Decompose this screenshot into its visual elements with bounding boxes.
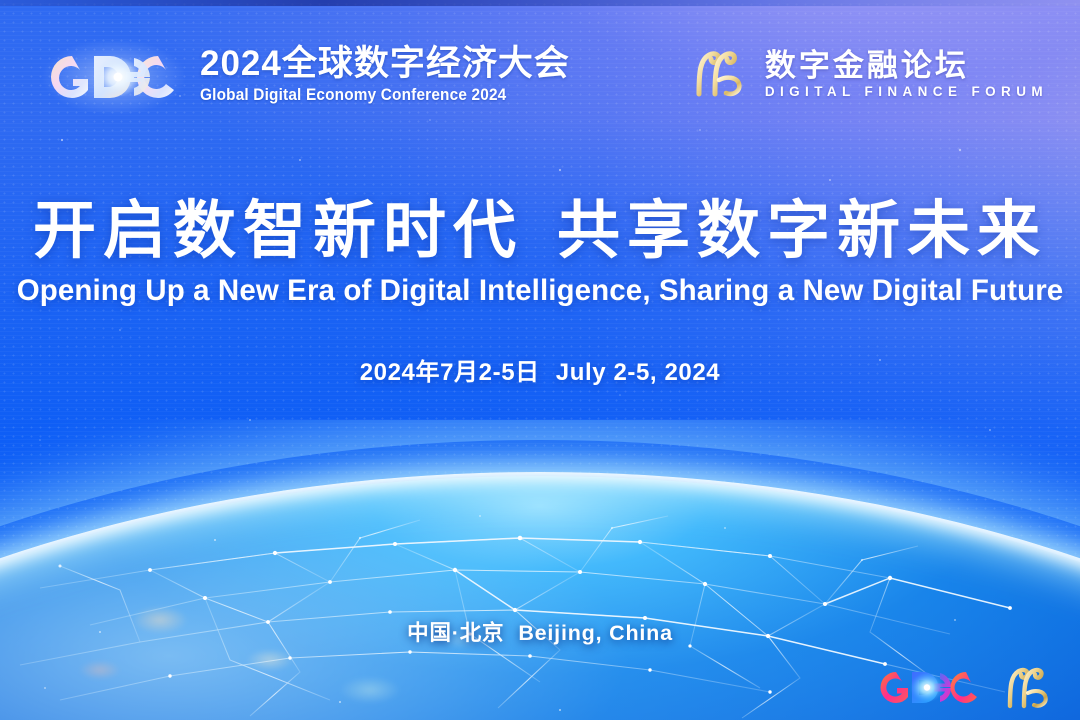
ff-logo-footer[interactable] <box>1002 664 1054 712</box>
location-en: Beijing, China <box>518 621 673 645</box>
conference-backdrop: 2024全球数字经济大会 Global Digital Economy Conf… <box>0 0 1080 720</box>
dff-logo-block[interactable]: 数字金融论坛 DIGITAL FINANCE FORUM <box>689 46 1048 102</box>
header-bar: 2024全球数字经济大会 Global Digital Economy Conf… <box>0 44 1080 112</box>
gdec-logo-top[interactable] <box>38 48 190 106</box>
location-cn: 中国·北京 <box>407 621 504 645</box>
gdec-logo-glow <box>28 38 200 116</box>
gdec-logo-footer[interactable] <box>872 666 980 710</box>
dff-title-en: DIGITAL FINANCE FORUM <box>765 83 1048 100</box>
slogan-cn: 开启数智新时代共享数字新未来 <box>0 192 1080 270</box>
event-date-en: July 2-5, 2024 <box>556 359 721 386</box>
event-location: 中国·北京Beijing, China <box>0 616 1080 647</box>
event-date-cn: 2024年7月2-5日 <box>360 359 540 386</box>
gdec-title-en: Global Digital Economy Conference 2024 <box>200 85 544 105</box>
slogan-en: Opening Up a New Era of Digital Intellig… <box>0 272 1080 310</box>
slogan-cn-part2: 共享数字新未来 <box>557 196 1047 266</box>
ff-monogram-icon <box>689 46 751 102</box>
dff-title-cn: 数字金融论坛 <box>765 48 1048 83</box>
main-slogan-block: 开启数智新时代共享数字新未来 Opening Up a New Era of D… <box>0 192 1080 310</box>
gdec-title-cn: 2024全球数字经济大会 <box>200 44 570 84</box>
gdec-title-block: 2024全球数字经济大会 Global Digital Economy Conf… <box>200 44 570 105</box>
slogan-cn-part1: 开启数智新时代 <box>33 196 523 266</box>
event-date: 2024年7月2-5日July 2-5, 2024 <box>0 352 1080 387</box>
dff-title-block: 数字金融论坛 DIGITAL FINANCE FORUM <box>765 48 1048 100</box>
footer-logo-group <box>872 664 1054 712</box>
